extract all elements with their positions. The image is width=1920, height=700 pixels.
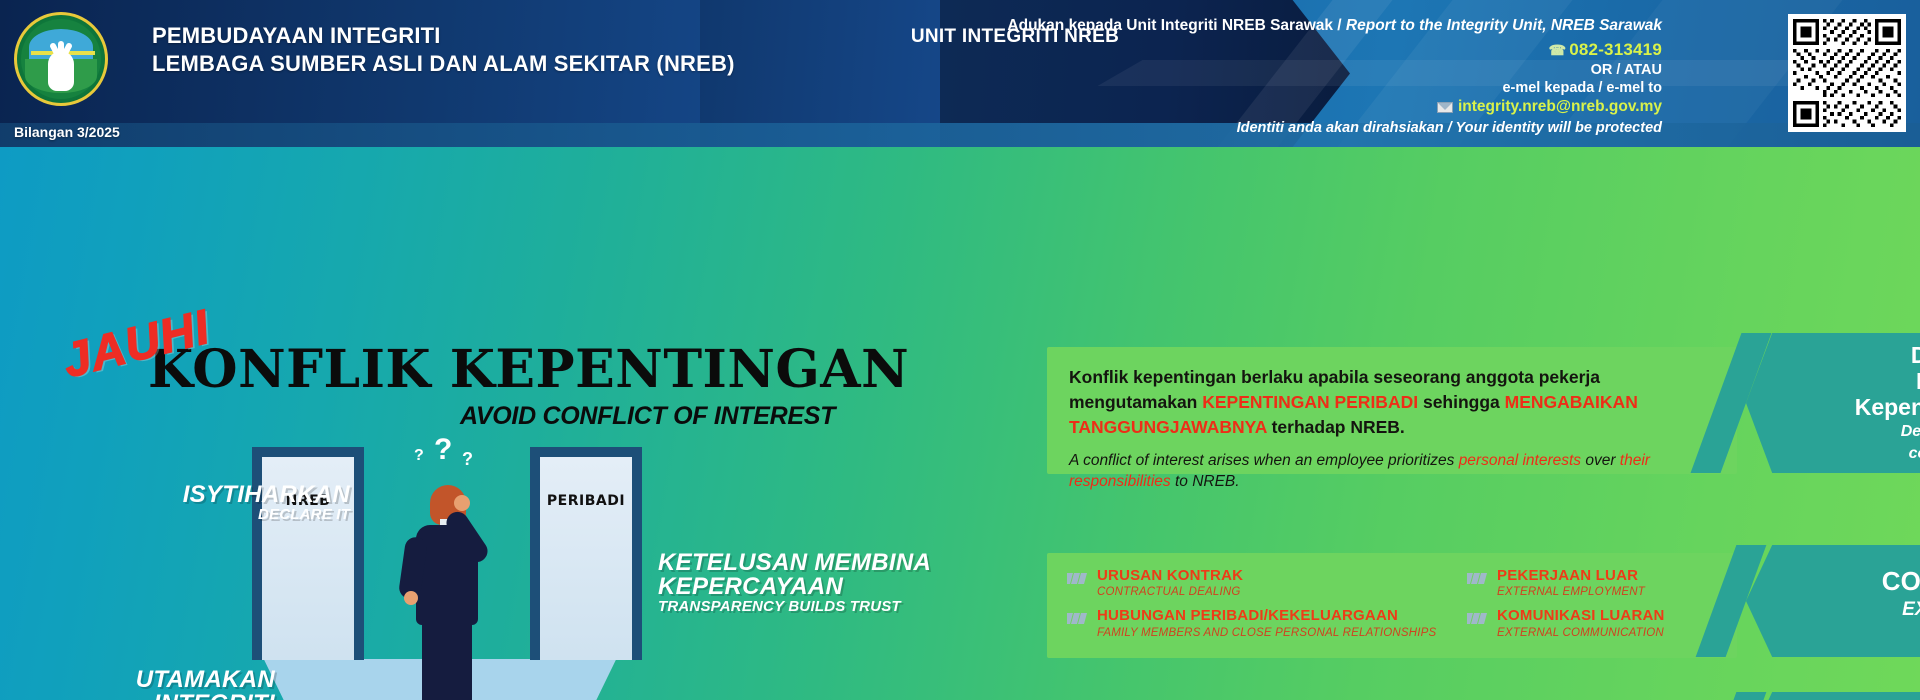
org-line-2: LEMBAGA SUMBER ASLI DAN ALAM SEKITAR (NR… — [152, 50, 735, 78]
phone-number: 082-313419 — [1569, 40, 1662, 59]
label-transparency: KETELUSAN MEMBINA KEPERCAYAAN TRANSPAREN… — [658, 551, 958, 614]
tab-definition-ms-2: Konflik — [1746, 369, 1920, 395]
confused-man-illustration — [392, 463, 502, 700]
label-trust-ms-1: KETELUSAN MEMBINA — [658, 551, 958, 575]
tab-example-ms: CONTOH — [1746, 567, 1920, 596]
email-label: e-mel kepada / e-mel to — [932, 80, 1662, 96]
report-line-ms: Adukan kepada Unit Integriti NREB Sarawa… — [1007, 17, 1346, 34]
example-ms: URUSAN KONTRAK — [1097, 567, 1243, 584]
example-en: EXTERNAL EMPLOYMENT — [1497, 586, 1645, 598]
definition-en-part1: A conflict of interest arises when an em… — [1069, 452, 1459, 469]
org-line-1: PEMBUDAYAAN INTEGRITI — [152, 22, 735, 50]
report-line: Adukan kepada Unit Integriti NREB Sarawa… — [932, 16, 1662, 35]
or-atau-label: OR / ATAU — [932, 62, 1662, 78]
tab-accent-action — [1696, 692, 1767, 700]
chevrons-icon — [1467, 611, 1489, 629]
example-item: HUBUNGAN PERIBADI/KEKELUARGAAN FAMILY ME… — [1067, 607, 1467, 638]
examples-grid: URUSAN KONTRAK CONTRACTUAL DEALING PEKER… — [1047, 553, 1737, 648]
hero-title: KONFLIK KEPENTINGAN — [148, 339, 909, 400]
question-mark-large: ? — [434, 433, 452, 467]
label-declare-en: DECLARE IT — [105, 507, 350, 522]
tab-definition[interactable]: Definisi Konflik Kepentingan Definition … — [1746, 333, 1920, 473]
definition-card: Konflik kepentingan berlaku apabila sese… — [1047, 347, 1737, 474]
label-declare-ms: ISYTIHARKAN — [105, 483, 350, 507]
tab-definition-ms-3: Kepentingan — [1746, 395, 1920, 421]
definition-en-part2: over — [1581, 452, 1620, 469]
example-ms: HUBUNGAN PERIBADI/KEKELUARGAAN — [1097, 607, 1436, 624]
label-integrity-ms: UTAMAKAN INTEGRITI — [30, 668, 275, 700]
chevrons-icon — [1067, 571, 1089, 589]
tab-definition-ms-1: Definisi — [1746, 343, 1920, 369]
qr-code[interactable] — [1788, 14, 1906, 132]
header-org-title: PEMBUDAYAAN INTEGRITI LEMBAGA SUMBER ASL… — [152, 22, 735, 78]
tab-definition-en-3: interest — [1746, 466, 1920, 484]
contact-email[interactable]: integrity.nreb@nreb.gov.my — [932, 98, 1662, 116]
definition-ms-part2: sehingga — [1418, 392, 1505, 412]
definition-en: A conflict of interest arises when an em… — [1069, 450, 1715, 493]
poster-body: JAUHI KONFLIK KEPENTINGAN AVOID CONFLICT… — [0, 147, 1920, 700]
contact-phone[interactable]: ☎082-313419 — [932, 40, 1662, 60]
chevrons-icon — [1067, 611, 1089, 629]
example-en: EXTERNAL COMMUNICATION — [1497, 627, 1665, 639]
hero-subtitle: AVOID CONFLICT OF INTEREST — [460, 402, 835, 431]
hero-illustration: JAUHI KONFLIK KEPENTINGAN AVOID CONFLICT… — [0, 147, 1010, 700]
tab-definition-en-1: Definition of — [1746, 423, 1920, 441]
definition-en-part3: to NREB. — [1171, 473, 1240, 490]
examples-card: URUSAN KONTRAK CONTRACTUAL DEALING PEKER… — [1047, 553, 1737, 658]
issue-number: Bilangan 3/2025 — [14, 124, 120, 140]
tab-example[interactable]: CONTOH EXAMPLE — [1746, 545, 1920, 657]
definition-ms-red1: KEPENTINGAN PERIBADI — [1202, 392, 1418, 412]
identity-note: Identiti anda akan dirahsiakan / Your id… — [932, 120, 1662, 136]
example-ms: PEKERJAAN LUAR — [1497, 567, 1645, 584]
report-line-en: Report to the Integrity Unit, NREB Saraw… — [1346, 17, 1662, 34]
example-en: CONTRACTUAL DEALING — [1097, 586, 1243, 598]
tab-action[interactable]: Tindakan Action step — [1746, 692, 1920, 700]
label-trust-en: TRANSPARENCY BUILDS TRUST — [658, 599, 958, 614]
label-trust-ms-2: KEPERCAYAAN — [658, 575, 958, 599]
email-address: integrity.nreb@nreb.gov.my — [1458, 98, 1662, 115]
example-ms: KOMUNIKASI LUARAN — [1497, 607, 1665, 624]
envelope-icon — [1437, 102, 1453, 113]
label-declare: ISYTIHARKAN DECLARE IT — [105, 483, 350, 522]
phone-icon: ☎ — [1549, 42, 1567, 58]
chevrons-icon — [1467, 571, 1489, 589]
example-item: URUSAN KONTRAK CONTRACTUAL DEALING — [1067, 567, 1467, 598]
example-item: PEKERJAAN LUAR EXTERNAL EMPLOYMENT — [1467, 567, 1757, 598]
header-contact-block: Adukan kepada Unit Integriti NREB Sarawa… — [932, 16, 1662, 136]
poster-header: PEMBUDAYAAN INTEGRITI LEMBAGA SUMBER ASL… — [0, 0, 1920, 147]
door-nreb: NREB — [252, 447, 364, 660]
definition-en-red1: personal interests — [1459, 452, 1581, 469]
definition-ms: Konflik kepentingan berlaku apabila sese… — [1069, 365, 1715, 440]
door-peribadi: PERIBADI — [530, 447, 642, 660]
tab-definition-en-2: conflicts of — [1746, 445, 1920, 463]
tab-example-en: EXAMPLE — [1746, 599, 1920, 621]
door-peribadi-label: PERIBADI — [530, 493, 642, 509]
definition-ms-part3: terhadap NREB. — [1267, 417, 1405, 437]
label-integrity-first: UTAMAKAN INTEGRITI INTEGRITY FIRST — [30, 668, 275, 700]
example-en: FAMILY MEMBERS AND CLOSE PERSONAL RELATI… — [1097, 627, 1436, 639]
qr-code-graphic — [1793, 19, 1901, 127]
nreb-logo — [14, 12, 108, 106]
poster-canvas: PEMBUDAYAAN INTEGRITI LEMBAGA SUMBER ASL… — [0, 0, 1920, 700]
